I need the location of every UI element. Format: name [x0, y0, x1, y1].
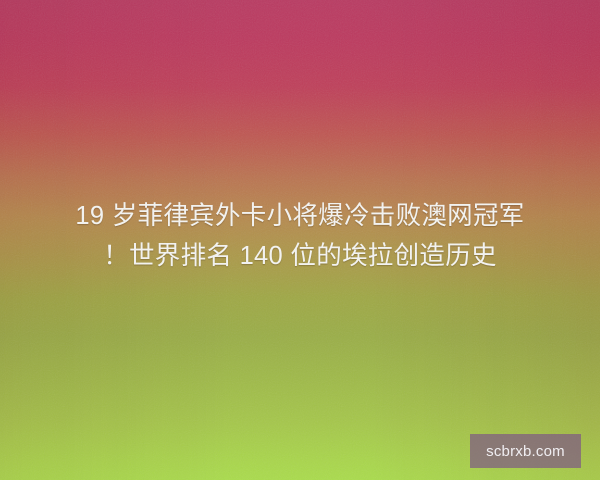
image-card: 19 岁菲律宾外卡小将爆冷击败澳网冠军 ！世界排名 140 位的埃拉创造历史 s…	[0, 0, 600, 480]
watermark-badge: scbrxb.com	[470, 434, 581, 468]
watermark-label: scbrxb.com	[486, 444, 565, 459]
headline-text: 19 岁菲律宾外卡小将爆冷击败澳网冠军 ！世界排名 140 位的埃拉创造历史	[0, 196, 600, 276]
